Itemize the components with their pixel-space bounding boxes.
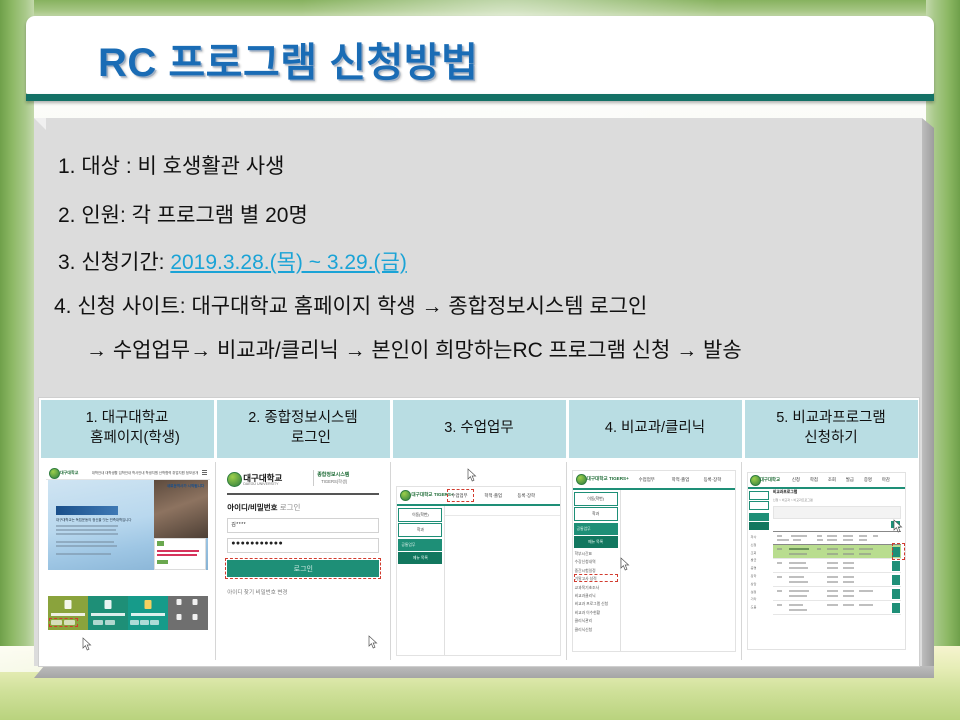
menu-item-10[interactable]: 클리닉신청 (575, 628, 617, 633)
list-nav-1[interactable]: 신청 (792, 477, 800, 483)
mouse-cursor-icon (467, 468, 478, 483)
portal-topbar: 대구대학교 TIGERS+ 수업업무 학적·졸업 등록·장학 (397, 487, 559, 506)
step-header-4: 4. 비교과/클리닉 (569, 400, 742, 458)
tile-chip[interactable] (140, 620, 149, 625)
tile-icon (176, 599, 181, 605)
bullet-4-text: 신청 사이트: 대구대학교 홈페이지 학생 → 종합정보시스템 로그인 (77, 295, 647, 318)
hamburger-menu-icon[interactable] (202, 470, 207, 471)
homepage-logo-text: 대구대학교 (60, 470, 78, 476)
panel-bevel-right (922, 118, 934, 666)
highlight-box (574, 574, 618, 582)
quicklink-tile-4[interactable] (168, 596, 208, 630)
portal-topbar: 대구대학교 TIGERS+ 수업업무 학적·졸업 등록·장학 (573, 471, 735, 490)
portal-nav-academic[interactable]: 학적·졸업 (672, 477, 690, 483)
bullet-item-4-line2: → 수업업무→ 비교과/클리닉 → 본인이 희망하는RC 프로그램 신청 → 발… (86, 340, 742, 361)
sidebar-tab-department[interactable]: 학과 (398, 523, 442, 537)
hero-text-line (56, 525, 118, 527)
quicklink-tile-3[interactable] (128, 596, 168, 630)
step-header-2-line1: 2. 종합정보시스템 (248, 409, 358, 429)
list-logo-text: 대구대학교 (760, 477, 780, 483)
application-period-highlight: 2019.3.28.(목) ~ 3.29.(금) (170, 251, 407, 274)
title-underline-rule (26, 94, 934, 101)
step-header-2: 2. 종합정보시스템 로그인 (217, 400, 390, 458)
tile-icon (145, 600, 152, 609)
tile-icon (105, 600, 112, 609)
sidebar-department-tab[interactable] (749, 501, 769, 510)
step-screenshot-5: 대구대학교 신청 학점 조회 발급 증명 마감 (742, 462, 917, 660)
id-input-value: 김**** (231, 521, 246, 528)
table-row[interactable] (773, 559, 901, 573)
sidebar-tab-department[interactable]: 학과 (574, 507, 618, 521)
step-header-5: 5. 비교과프로그램 신청하기 (745, 400, 918, 458)
quicklink-tile-1[interactable] (48, 596, 88, 630)
bullet-4-text-line2: → 수업업무→ 비교과/클리닉 → 본인이 희망하는RC 프로그램 신청 → 발… (86, 339, 742, 362)
news-tag (157, 560, 168, 564)
sidebar-common-tasks[interactable]: 공통업무 (574, 523, 618, 535)
login-screenshot: 대구대학교 DAEGU UNIVERSITY 종합정보시스템 TIGERS(학생… (221, 466, 385, 656)
sidebar-menu-list[interactable]: 메뉴 목록 (574, 536, 618, 548)
step-header-2-line2: 로그인 (248, 429, 358, 449)
mouse-cursor-icon (893, 519, 904, 534)
hero-text-line (56, 529, 116, 531)
panel-bevel-bottom (34, 666, 934, 678)
tile-icon (176, 614, 181, 620)
sidebar-menu-items[interactable]: ·학사·신청·조회·발급 ·증명·장학·상담·설정 ·기타·도움 (750, 534, 769, 612)
homepage-hero-banner: 새로운역사가 시작됩니다 대구대학교는 독립운동의 정신을 잇는 민족대학입니다 (48, 480, 208, 570)
menu-item-5[interactable]: 교과목기초조사 (575, 586, 617, 591)
sidebar-common-tasks[interactable] (749, 513, 769, 521)
tile-label (51, 613, 85, 616)
tile-chip[interactable] (93, 620, 103, 625)
password-input-value: ●●●●●●●●●●● (231, 540, 283, 547)
tile-icon (65, 600, 72, 609)
step-header-5-line2: 신청하기 (776, 429, 886, 449)
portal-logo-text: 대구대학교 TIGERS+ (587, 476, 629, 482)
portal-nav-tuition[interactable]: 등록·장학 (704, 477, 722, 483)
step-header-1-line2: 홈페이지(학생) (74, 429, 180, 449)
step-header-5-line1: 5. 비교과프로그램 (776, 409, 886, 429)
portal-content-area (444, 506, 559, 655)
portal-content-area (620, 490, 735, 651)
sidebar-menu-list[interactable]: 메뉴 목록 (398, 552, 442, 564)
login-heading-light: 로그인 (280, 503, 301, 512)
step-screenshot-2: 대구대학교 DAEGU UNIVERSITY 종합정보시스템 TIGERS(학생… (216, 462, 391, 660)
list-nav-4[interactable]: 발급 (846, 477, 854, 483)
bullet-3-number: 3. (58, 251, 76, 274)
step-header-3-line1: 3. 수업업무 (444, 419, 513, 439)
login-divider-rule (227, 493, 379, 495)
table-row[interactable] (773, 545, 901, 559)
tile-chip[interactable] (130, 620, 139, 625)
portal-nav-academic[interactable]: 학적·졸업 (484, 493, 502, 499)
highlight-box (49, 618, 78, 627)
portal-window: 대구대학교 TIGERS+ 수업업무 학적·졸업 등록·장학 이동(학번) 학과… (396, 486, 560, 656)
content-divider (445, 515, 559, 516)
homepage-screenshot: 대구대학교 대학안내 대학생활 입학안내 학사안내 학생지원 산학협력 취업지원… (46, 466, 210, 656)
steps-table: 1. 대구대학교 홈페이지(학생) 2. 종합정보시스템 로그인 3. 수업업무… (38, 397, 920, 667)
login-heading: 아이디/비밀번호 로그인 (227, 502, 300, 513)
menu-item-9[interactable]: 클리닉관리 (575, 619, 617, 624)
list-sidebar: ·학사·신청·조회·발급 ·증명·장학·상담·설정 ·기타·도움 (748, 489, 770, 649)
step-screenshot-1: 대구대학교 대학안내 대학생활 입학안내 학사안내 학생지원 산학협력 취업지원… (41, 462, 216, 660)
list-content-area: 비교과프로그램 신청 > 비교과 > 비교과프로그램 (771, 489, 905, 649)
sidebar-student-tab[interactable] (749, 491, 769, 500)
apply-button[interactable] (892, 561, 900, 571)
login-system-name: 종합정보시스템 (317, 471, 349, 478)
tile-chip[interactable] (105, 620, 115, 625)
hero-news-card[interactable] (154, 538, 206, 570)
hero-subtitle: 대구대학교는 독립운동의 정신을 잇는 민족대학입니다 (56, 517, 132, 522)
highlight-box (225, 558, 381, 579)
news-badge (157, 541, 164, 546)
list-topbar: 대구대학교 신청 학점 조회 발급 증명 마감 (748, 473, 905, 489)
program-list-screenshot: 대구대학교 신청 학점 조회 발급 증명 마감 (747, 466, 912, 656)
login-helper-links[interactable]: 아이디 찾기 비밀번호 변경 (227, 588, 287, 596)
table-row[interactable] (773, 573, 901, 587)
apply-button[interactable] (892, 575, 900, 585)
university-logo-icon (400, 490, 411, 501)
steps-screenshot-row: 대구대학교 대학안내 대학생활 입학안내 학사안내 학생지원 산학협력 취업지원… (39, 460, 919, 666)
hero-text-line (56, 553, 111, 555)
tile-label (131, 613, 165, 616)
apply-button[interactable] (892, 589, 900, 599)
table-row[interactable] (773, 601, 901, 615)
list-table-header (773, 531, 901, 545)
hero-note: 새로운역사가 시작됩니다 (167, 484, 204, 489)
program-list-window: 대구대학교 신청 학점 조회 발급 증명 마감 (747, 472, 906, 650)
step-screenshot-4: 대구대학교 TIGERS+ 수업업무 학적·졸업 등록·장학 이동(학번) 학과… (567, 462, 742, 660)
login-page: 대구대학교 DAEGU UNIVERSITY 종합정보시스템 TIGERS(학생… (221, 466, 385, 656)
bullet-2-text: 인원: 각 프로그램 별 20명 (81, 204, 307, 227)
login-heading-bold: 아이디/비밀번호 (227, 503, 277, 512)
list-nav-6[interactable]: 마감 (882, 477, 890, 483)
bullet-item-4: 4. 신청 사이트: 대구대학교 홈페이지 학생 → 종합정보시스템 로그인 (54, 296, 647, 317)
university-logo-icon (49, 468, 60, 479)
highlight-box (892, 543, 905, 560)
university-logo-icon (227, 472, 242, 487)
list-nav-5[interactable]: 증명 (864, 477, 872, 483)
menu-item-6[interactable]: 비교과클리닉 (575, 594, 617, 599)
sidebar-menu-list[interactable] (749, 522, 769, 530)
step-header-1-line1: 1. 대구대학교 (74, 409, 180, 429)
university-logo-icon (576, 474, 587, 485)
id-input-field[interactable] (227, 518, 379, 533)
bullet-4-number: 4. (54, 295, 72, 318)
page-title: RC 프로그램 신청방법 (98, 30, 478, 88)
portal-screenshot: 대구대학교 TIGERS+ 수업업무 학적·졸업 등록·장학 이동(학번) 학과… (396, 466, 560, 656)
step-screenshot-3: 대구대학교 TIGERS+ 수업업무 학적·졸업 등록·장학 이동(학번) 학과… (391, 462, 566, 660)
step-header-3: 3. 수업업무 (393, 400, 566, 458)
portal-sidebar: 이동(학번) 학과 공통업무 메뉴 목록 (397, 506, 443, 655)
list-nav-2[interactable]: 학점 (810, 477, 818, 483)
sidebar-menu-items: 학부시간표 수강신청내역 중간시험일정 기말고사 성적 교과목기초조사 비교과클… (575, 552, 617, 636)
panel-bevel-corner (34, 118, 46, 130)
login-logo-sub: DAEGU UNIVERSITY (243, 482, 278, 486)
bullet-3-label: 신청기간: (81, 251, 164, 274)
tile-icon (193, 614, 198, 620)
login-system-role: TIGERS(학생) (321, 479, 347, 485)
step-header-4-line1: 4. 비교과/클리닉 (605, 419, 705, 439)
news-title (157, 554, 197, 556)
homepage-topbar: 대구대학교 대학안내 대학생활 입학안내 학사안내 학생지원 산학협력 취업지원… (46, 466, 210, 480)
step-header-1: 1. 대구대학교 홈페이지(학생) (41, 400, 214, 458)
bullet-item-3: 3. 신청기간: 2019.3.28.(목) ~ 3.29.(금) (58, 252, 407, 273)
sidebar-tab-student[interactable]: 이동(학번) (574, 492, 618, 506)
quicklink-tile-2[interactable] (88, 596, 128, 630)
homepage-nav: 대학안내 대학생활 입학안내 학사안내 학생지원 산학협력 취업지원 정보공개 (92, 470, 198, 475)
portal-sidebar: 이동(학번) 학과 공통업무 메뉴 목록 학부시간표 수강신청내역 중간시험일정… (573, 490, 619, 651)
hero-text-line (56, 541, 114, 543)
mouse-cursor-icon (620, 557, 631, 572)
bullet-1-number: 1. (58, 155, 76, 178)
tile-icon (193, 599, 198, 605)
logo-divider (313, 470, 314, 486)
extracurricular-menu-screenshot: 대구대학교 TIGERS+ 수업업무 학적·졸업 등록·장학 이동(학번) 학과… (572, 466, 736, 656)
tile-chip[interactable] (150, 620, 159, 625)
steps-header-row: 1. 대구대학교 홈페이지(학생) 2. 종합정보시스템 로그인 3. 수업업무… (39, 398, 919, 460)
list-tab-title: 비교과프로그램 (773, 490, 797, 495)
mouse-cursor-icon (368, 635, 379, 650)
portal-window: 대구대학교 TIGERS+ 수업업무 학적·졸업 등록·장학 이동(학번) 학과… (572, 470, 736, 652)
portal-nav-tuition[interactable]: 등록·장학 (517, 493, 535, 499)
table-row[interactable] (773, 587, 901, 601)
portal-nav-class-affairs[interactable]: 수업업무 (639, 477, 655, 483)
news-title (157, 550, 199, 552)
menu-item-8[interactable]: 비교과 이수현황 (575, 611, 617, 616)
menu-item-2[interactable]: 수강신청내역 (575, 560, 617, 565)
sidebar-common-tasks[interactable]: 공통업무 (398, 539, 442, 551)
bullet-item-1: 1. 대상 : 비 호생활관 사생 (58, 156, 284, 177)
list-breadcrumb: 신청 > 비교과 > 비교과프로그램 (773, 498, 813, 502)
mouse-cursor-icon (82, 637, 93, 652)
bullet-2-number: 2. (58, 204, 76, 227)
tile-label (91, 613, 125, 616)
menu-item-7[interactable]: 비교과 프로그램 신청 (575, 602, 617, 607)
bullet-item-2: 2. 인원: 각 프로그램 별 20명 (58, 205, 308, 226)
hero-text-line (56, 545, 117, 547)
hero-headline (56, 506, 118, 515)
homepage-quicklink-tiles (48, 596, 208, 630)
bullet-1-text: 대상 : 비 호생활관 사생 (81, 155, 284, 178)
sidebar-tab-student[interactable]: 이동(학번) (398, 508, 442, 522)
list-nav-3[interactable]: 조회 (828, 477, 836, 483)
apply-button[interactable] (892, 603, 900, 613)
slide-canvas: RC 프로그램 신청방법 1. 대상 : 비 호생활관 사생 2. 인원: 각 … (0, 0, 960, 720)
menu-item-1[interactable]: 학부시간표 (575, 552, 617, 557)
highlight-box (447, 489, 474, 502)
list-search-bar[interactable] (773, 506, 901, 519)
hero-text-line (56, 533, 118, 535)
